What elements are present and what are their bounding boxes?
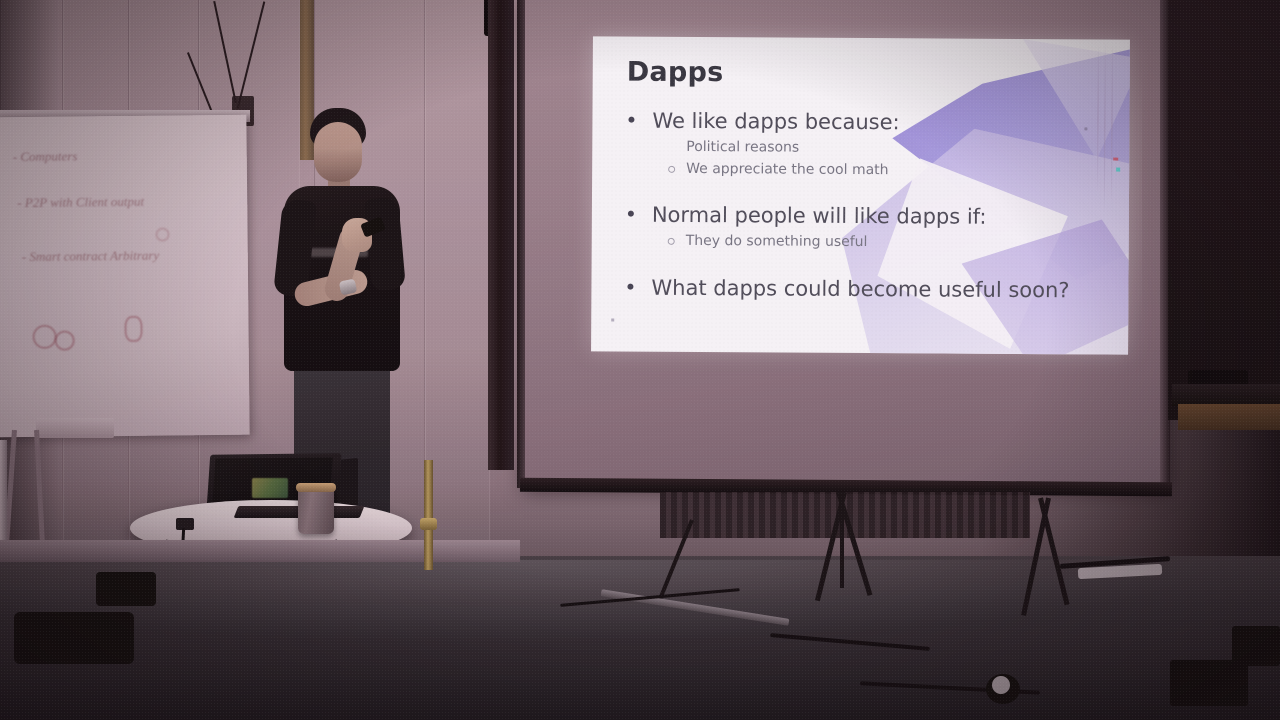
slide-sub-bullet: We appreciate the cool math <box>620 158 1100 181</box>
slide-bullet: What dapps could become useful soon? <box>619 273 1099 304</box>
right-table-wood-edge <box>1178 404 1280 430</box>
screen-tripod-post <box>840 492 844 588</box>
slide-title: Dapps <box>627 57 724 89</box>
laptop-screen-content <box>252 478 288 498</box>
floor-equipment-highlight <box>992 676 1010 694</box>
slide-colour-fringe <box>1113 158 1118 161</box>
slide-bullet: We like dapps because: <box>620 107 1100 138</box>
flipchart-line: - Smart contract Arbitrary <box>22 248 160 265</box>
presentation-photo-scene: - Computers - P2P with Client output - S… <box>0 0 1280 720</box>
dark-column <box>488 0 514 470</box>
flipchart-doodle <box>55 330 75 350</box>
wall-baseboard <box>0 540 520 562</box>
slide-colour-fringe <box>1116 168 1120 172</box>
flipchart-doodle <box>124 316 142 342</box>
brass-pipe <box>424 460 433 570</box>
floor-equipment <box>96 572 156 606</box>
screen-edge-left <box>517 0 525 488</box>
right-table-surface <box>1172 384 1280 406</box>
right-wall-dark <box>1168 0 1280 420</box>
floor-equipment <box>14 612 134 664</box>
slide-bullet: Normal people will like dapps if: <box>620 200 1100 231</box>
floor-equipment <box>1232 626 1280 666</box>
slide-bullet-group: What dapps could become useful soon? <box>619 273 1099 304</box>
presenter-face-shadow <box>314 148 362 182</box>
slide-bullet-group: Normal people will like dapps if: They d… <box>620 200 1100 254</box>
slide-speck <box>611 318 614 321</box>
coffee-cup-rim <box>296 483 336 492</box>
slide-bullet-group: We like dapps because: Political reasons… <box>620 107 1100 182</box>
slide-speck <box>1084 127 1087 130</box>
slide-sub-bullet: They do something useful <box>620 231 1100 254</box>
projected-slide: Dapps We like dapps because: Political r… <box>591 36 1130 354</box>
slide-bullet-list: We like dapps because: Political reasons… <box>619 107 1100 307</box>
flipchart-doodle <box>155 227 169 241</box>
flipchart-line: - P2P with Client output <box>17 194 144 211</box>
coffee-cup <box>298 486 334 534</box>
flipchart-doodle <box>33 325 57 349</box>
floor-equipment <box>1170 660 1248 706</box>
flipchart-paper: - Computers - P2P with Client output - S… <box>0 115 250 438</box>
slide-sub-bullet: Political reasons <box>620 137 1100 160</box>
brass-pipe-collar <box>420 518 437 530</box>
wall-panel <box>424 0 490 560</box>
flipchart-line: - Computers <box>13 148 78 165</box>
